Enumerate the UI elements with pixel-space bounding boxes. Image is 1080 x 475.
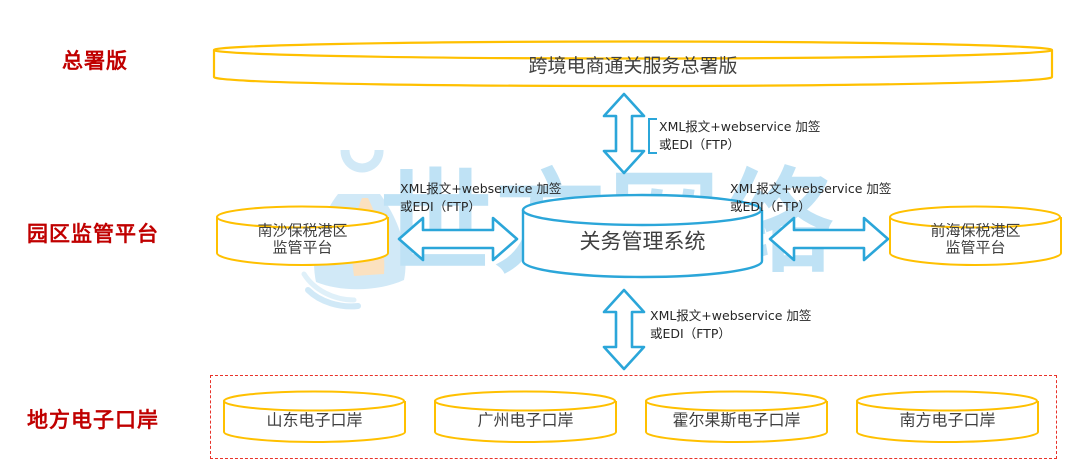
annotation-left: XML报文+webservice 加签 或EDI（FTP） [400,180,561,216]
row-label-bottom: 地方电子口岸 [27,404,159,434]
node-right-platform[interactable]: 前海保税港区 监管平台 [888,205,1063,267]
node-port-2[interactable]: 霍尔果斯电子口岸 [644,390,829,444]
annotation-right: XML报文+webservice 加签 或EDI（FTP） [730,180,891,216]
node-top-platform[interactable]: 跨境电商通关服务总署版 [212,40,1054,87]
node-port-0[interactable]: 山东电子口岸 [222,390,407,444]
top-connector-arrow [601,92,647,175]
left-connector-arrow [397,215,519,263]
row-label-top: 总署版 [62,45,128,75]
diagram-canvas: 世方网络 总署版 园区监管平台 地方电子口岸 跨境电商通关服务总署版 XML报文… [0,0,1080,475]
row-label-middle: 园区监管平台 [27,218,159,248]
annotation-bottom: XML报文+webservice 加签 或EDI（FTP） [650,307,811,343]
bottom-connector-arrow [601,288,647,371]
node-port-1[interactable]: 广州电子口岸 [433,390,618,444]
annotation-top: XML报文+webservice 加签 或EDI（FTP） [648,118,820,154]
node-left-platform[interactable]: 南沙保税港区 监管平台 [215,205,390,267]
node-port-3[interactable]: 南方电子口岸 [855,390,1040,444]
right-connector-arrow [768,215,890,263]
